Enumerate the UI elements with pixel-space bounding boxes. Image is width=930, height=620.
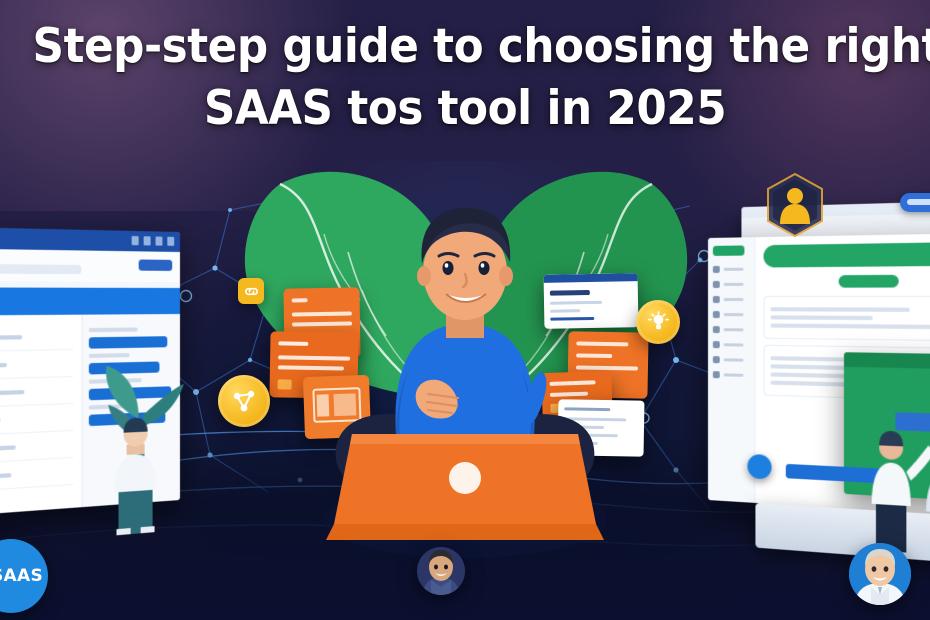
title-line-1: Step-step guide to choosing the right (33, 16, 898, 78)
highlight-banner (763, 242, 930, 268)
link-icon[interactable] (238, 278, 264, 304)
grid-icon[interactable] (156, 236, 163, 245)
chat-bubble (88, 336, 167, 348)
gear-icon (713, 356, 720, 363)
table-row[interactable] (0, 323, 73, 352)
chart-icon (713, 281, 720, 288)
calendar-icon (713, 311, 720, 318)
left-dashboard-header-band (0, 287, 180, 315)
tag-icon (713, 371, 720, 378)
table-row[interactable] (0, 350, 73, 381)
man-with-laptop-illustration (300, 168, 630, 568)
cart-icon[interactable] (144, 236, 151, 245)
floating-action-button[interactable] (747, 454, 771, 480)
poster-canvas: SAAS Step-step guide to choosing the rig… (0, 0, 930, 620)
cta-button[interactable] (839, 275, 899, 288)
primary-action-button[interactable] (139, 259, 173, 270)
table-row[interactable] (0, 458, 73, 493)
link-glyph (243, 283, 260, 300)
sidebar-item[interactable] (713, 356, 750, 364)
file-icon (713, 341, 720, 348)
title-line-2: SAAS tos tool in 2025 (33, 78, 898, 140)
avatar-face (417, 547, 465, 595)
sidebar-item[interactable] (713, 281, 750, 288)
left-dashboard-panel[interactable] (0, 226, 180, 517)
users-icon (713, 296, 720, 303)
share-nodes-icon[interactable] (218, 375, 270, 427)
brand-logo (713, 245, 745, 255)
page-title: Step-step guide to choosing the right SA… (0, 16, 930, 140)
saas-badge-label: SAAS (0, 566, 43, 586)
bulb-icon[interactable] (636, 300, 680, 344)
user-avatar-right[interactable] (849, 543, 911, 605)
person-illustration-left (96, 412, 174, 537)
bulb-glyph (647, 311, 670, 334)
sidebar-item[interactable] (713, 266, 750, 273)
left-dashboard-table (0, 315, 82, 518)
sidebar-item[interactable] (713, 311, 750, 318)
action-pill-button[interactable] (900, 193, 930, 212)
content-card[interactable] (763, 296, 930, 341)
sidebar-item[interactable] (713, 296, 750, 303)
user-avatar-center[interactable] (417, 547, 465, 595)
right-dashboard-panel[interactable] (708, 218, 930, 528)
bell-icon[interactable] (132, 236, 139, 245)
avatar-face (849, 543, 911, 605)
menu-icon[interactable] (167, 237, 174, 246)
sidebar-item[interactable] (713, 341, 750, 349)
user-hologram-icon[interactable] (764, 172, 826, 238)
people-illustration-right (863, 411, 930, 558)
search-input[interactable] (0, 264, 82, 275)
sidebar-item[interactable] (713, 371, 750, 379)
home-icon (713, 266, 720, 273)
mail-icon (713, 326, 720, 333)
sidebar-item[interactable] (713, 326, 750, 333)
share-glyph (230, 387, 258, 415)
left-dashboard-subbar (0, 248, 180, 282)
